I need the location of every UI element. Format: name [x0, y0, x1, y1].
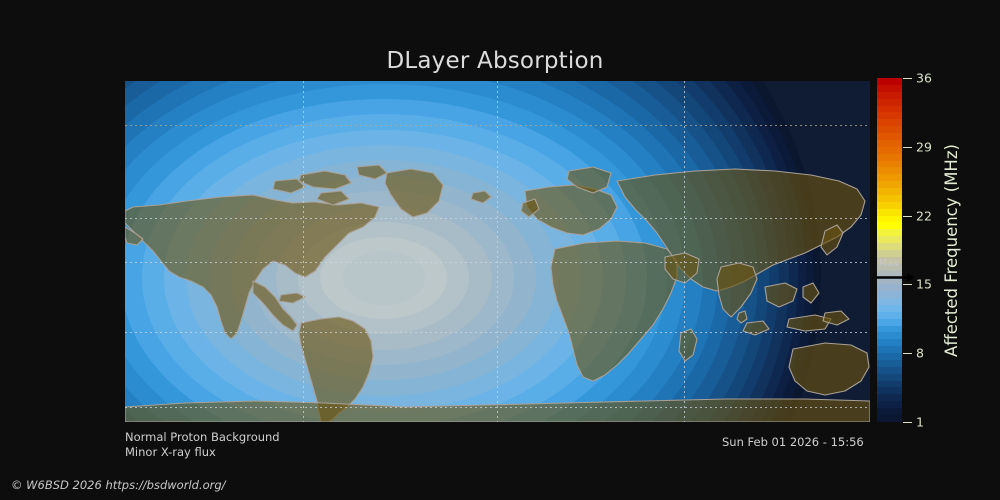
colorbar-segment — [877, 167, 902, 174]
colorbar-segment — [877, 133, 902, 140]
colorbar-tick — [903, 78, 912, 79]
gridline-tropic-capricorn — [125, 332, 870, 333]
colorbar-segment — [877, 298, 902, 305]
colorbar-segment — [877, 99, 902, 106]
colorbar-axis-label-text: Affected Frequency (MHz) — [942, 144, 961, 357]
colorbar-segment — [877, 360, 902, 367]
colorbar-tick-label: 36 — [916, 71, 932, 86]
colorbar-segment — [877, 401, 902, 408]
gridline-antarctic-circle — [125, 407, 870, 408]
colorbar-segment — [877, 119, 902, 126]
gridline-equator — [125, 262, 870, 263]
copyright-notice: © W6BSD 2026 https://bsdworld.org/ — [11, 478, 226, 492]
colorbar-tick-label: 22 — [916, 208, 932, 223]
colorbar-segment — [877, 195, 902, 202]
gridline-longitude — [497, 81, 498, 422]
colorbar-tick — [903, 216, 912, 217]
colorbar-segment — [877, 154, 902, 161]
colorbar-segment — [877, 236, 902, 243]
colorbar-segment — [877, 284, 902, 291]
colorbar-segment — [877, 92, 902, 99]
colorbar-segment — [877, 394, 902, 401]
colorbar-segment — [877, 174, 902, 181]
colorbar-segment — [877, 222, 902, 229]
colorbar-segment — [877, 216, 902, 223]
colorbar-tick — [903, 284, 912, 285]
colorbar-segment — [877, 305, 902, 312]
colorbar-segment — [877, 229, 902, 236]
colorbar-segment — [877, 209, 902, 216]
colorbar-segment — [877, 188, 902, 195]
gridline-arctic-circle — [125, 125, 870, 126]
colorbar-tick — [903, 147, 912, 148]
colorbar-max-label: Max — [879, 259, 899, 269]
colorbar-segment — [877, 126, 902, 133]
colorbar-segment — [877, 415, 902, 422]
colorbar-segment — [877, 202, 902, 209]
colorbar-segment — [877, 112, 902, 119]
colorbar-segment — [877, 346, 902, 353]
colorbar-segment — [877, 387, 902, 394]
colorbar-segment — [877, 291, 902, 298]
colorbar-segment — [877, 381, 902, 388]
colorbar-segment — [877, 374, 902, 381]
colorbar-segment — [877, 147, 902, 154]
dlayer-absorption-map-view: DLayer Absorption — [0, 0, 1000, 500]
right-arrow-icon — [877, 273, 915, 282]
colorbar-segment — [877, 78, 902, 85]
colorbar-segment — [877, 106, 902, 113]
colorbar-tick — [903, 353, 912, 354]
world-map[interactable] — [125, 81, 870, 422]
colorbar-segment — [877, 339, 902, 346]
xray-status-text: Minor X-ray flux — [125, 445, 216, 459]
gridline-longitude — [303, 81, 304, 422]
colorbar-segment — [877, 353, 902, 360]
colorbar-segment — [877, 312, 902, 319]
colorbar-segment — [877, 326, 902, 333]
colorbar[interactable] — [877, 78, 902, 422]
gridline-tropic-cancer — [125, 218, 870, 219]
colorbar-segment — [877, 161, 902, 168]
colorbar-segment — [877, 85, 902, 92]
colorbar-segment — [877, 332, 902, 339]
colorbar-tick-label: 8 — [916, 346, 924, 361]
timestamp: Sun Feb 01 2026 - 15:56 — [722, 435, 864, 449]
colorbar-tick-label: 15 — [916, 277, 932, 292]
colorbar-segment — [877, 319, 902, 326]
colorbar-tick — [903, 422, 912, 423]
colorbar-segment — [877, 243, 902, 250]
gridline-longitude — [684, 81, 685, 422]
colorbar-axis-label: Affected Frequency (MHz) — [938, 78, 964, 422]
colorbar-segment — [877, 140, 902, 147]
colorbar-segment — [877, 408, 902, 415]
colorbar-tick-label: 1 — [916, 415, 924, 430]
page-title: DLayer Absorption — [0, 48, 990, 74]
colorbar-segment — [877, 367, 902, 374]
colorbar-tick-label: 29 — [916, 139, 932, 154]
proton-status-text: Normal Proton Background — [125, 430, 280, 444]
colorbar-segment — [877, 181, 902, 188]
colorbar-segment — [877, 250, 902, 257]
